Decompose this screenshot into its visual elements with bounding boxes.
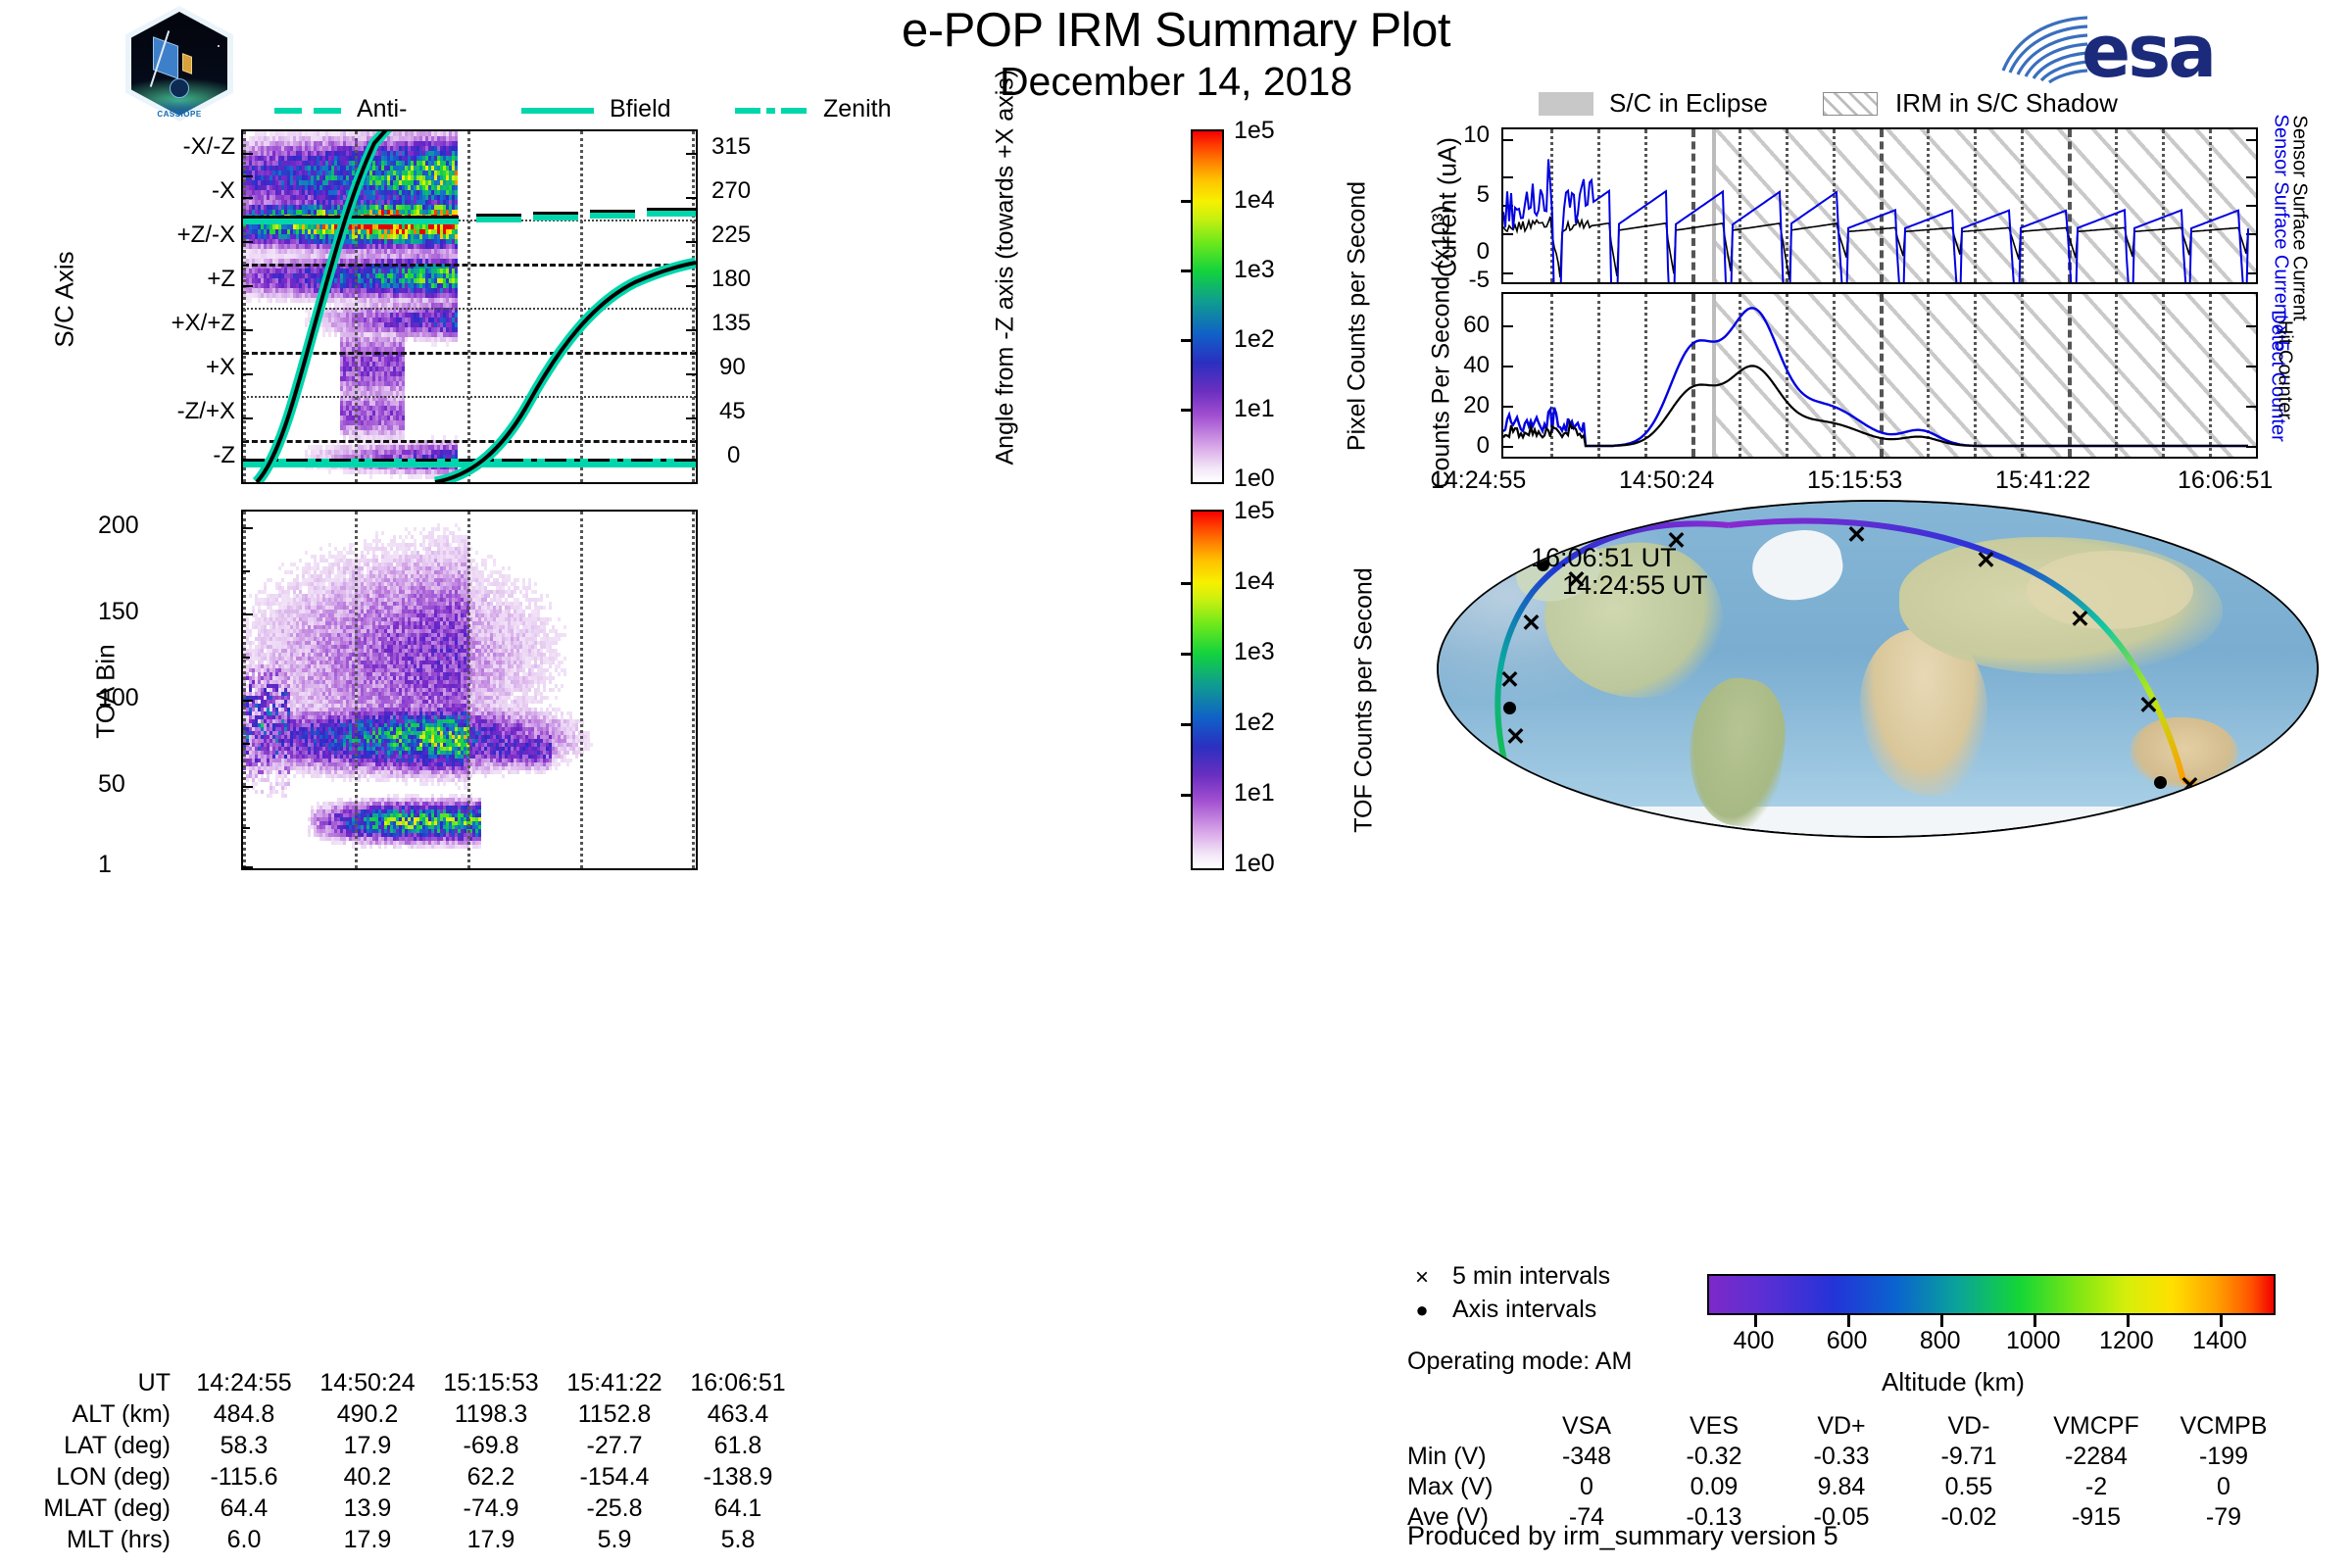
time-tick-1: 14:50:24 (1619, 466, 1714, 495)
sensor-surface-current-plot[interactable] (1501, 127, 2258, 284)
map-x-marker: ✕ (1521, 612, 1542, 636)
angle-tick-45: 45 (719, 398, 746, 425)
ephemeris-cell: 64.1 (676, 1493, 800, 1524)
voltage-row-label: Max (V) (1407, 1472, 1523, 1502)
table-row: MLAT (deg)64.413.9-74.9-25.864.1 (35, 1493, 800, 1524)
legend-label-bfield: Bfield (610, 95, 671, 123)
ephemeris-row-label: LON (deg) (35, 1461, 182, 1493)
ephemeris-cell: 16:06:51 (676, 1367, 800, 1398)
ephemeris-cell: 15:41:22 (553, 1367, 676, 1398)
shadow-legend-label: IRM in S/C Shadow (1895, 88, 2118, 119)
ephemeris-cell: 14:50:24 (306, 1367, 429, 1398)
sc-axis-spectrogram[interactable] (241, 129, 698, 484)
altitude-tick-mark (2033, 1315, 2036, 1327)
voltage-column-header: VES (1650, 1411, 1778, 1442)
map-x-marker: ✕ (2270, 772, 2290, 797)
map-x-marker: ✕ (1505, 725, 1526, 750)
angle-tick-90: 90 (719, 354, 746, 381)
produced-by-footer: Produced by irm_summary version 5 (1407, 1521, 1838, 1551)
sc-axis-tick--x--z: -X/-Z (4, 133, 235, 161)
map-legend-label-axis: Axis intervals (1452, 1296, 1596, 1324)
toa-bin-ylabel: TOA Bin (91, 604, 122, 780)
map-end-time-annotation: 16:06:51 UT (1531, 543, 1677, 573)
altitude-tick-label: 1000 (2006, 1327, 2061, 1355)
altitude-colorbar (1707, 1274, 2276, 1315)
altitude-tick-label: 400 (1734, 1327, 1775, 1355)
sc-axis-ylabel: S/C Axis (50, 212, 80, 388)
angle-tick-225: 225 (711, 221, 751, 249)
altitude-tick-label: 800 (1920, 1327, 1961, 1355)
table-row: LON (deg)-115.640.262.2-154.4-138.9 (35, 1461, 800, 1493)
angle-tick-270: 270 (711, 177, 751, 205)
voltage-column-header: VD- (1905, 1411, 2033, 1442)
voltage-cell: 0 (2160, 1472, 2287, 1502)
voltage-column-header: VMCPF (2033, 1411, 2160, 1442)
page-title: e-POP IRM Summary Plot (588, 6, 1764, 57)
ground-track-map[interactable]: ✕ ✕ ✕ ✕ ✕ ✕ ✕ ✕ ✕ ✕ ✕ ✕ 16:06:51 UT 14:2… (1437, 500, 2319, 838)
counts-per-second-plot[interactable] (1501, 292, 2258, 459)
sc-axis-tick-nz-px: -Z/+X (4, 398, 235, 425)
angle-tick-180: 180 (711, 266, 751, 293)
voltage-corner-cell (1407, 1411, 1523, 1442)
table-row: LAT (deg)58.317.9-69.8-27.761.8 (35, 1430, 800, 1461)
sc-axis-tick-nz: -Z (4, 442, 235, 469)
voltage-cell: 0.09 (1650, 1472, 1778, 1502)
ephemeris-cell: 17.9 (306, 1524, 429, 1555)
voltage-cell: -2 (2033, 1472, 2160, 1502)
toa-tick-200: 200 (98, 512, 225, 540)
operating-mode-label: Operating mode: AM (1407, 1347, 1632, 1376)
altitude-tick-mark (1847, 1315, 1850, 1327)
map-x-marker: ✕ (1521, 782, 1542, 807)
ephemeris-row-label: ALT (km) (35, 1398, 182, 1430)
counts-right-label-black: Hit Counter (2274, 307, 2296, 434)
table-header-row: VSAVESVD+VD-VMCPFVCMPB (1407, 1411, 2287, 1442)
voltage-cell: -9.71 (1905, 1442, 2033, 1472)
ephemeris-cell: 5.8 (676, 1524, 800, 1555)
voltage-cell: -79 (2160, 1502, 2287, 1533)
altitude-tick-mark (2127, 1315, 2130, 1327)
sc-axis-tick-pz: +Z (4, 266, 235, 293)
altitude-tick-label: 1400 (2192, 1327, 2247, 1355)
sc-axis-tick-px: +X (4, 354, 235, 381)
ephemeris-cell: 15:15:53 (429, 1367, 553, 1398)
voltage-cell: 0 (1523, 1472, 1650, 1502)
trace-bfield (243, 131, 696, 482)
current-traces (1503, 129, 2256, 282)
shadow-hatch-swatch (1823, 92, 1878, 116)
voltage-row-label: Min (V) (1407, 1442, 1523, 1472)
table-row: Min (V)-348-0.32-0.33-9.71-2284-199 (1407, 1442, 2287, 1472)
cbarB-tick-1e0: 1e0 (1234, 850, 1275, 878)
table-row: MLT (hrs)6.017.917.95.95.8 (35, 1524, 800, 1555)
table-row: UT14:24:5514:50:2415:15:5315:41:2216:06:… (35, 1367, 800, 1398)
cbarB-tick-1e3: 1e3 (1234, 638, 1275, 666)
map-x-marker: ✕ (1499, 668, 1520, 693)
altitude-colorbar-title: Altitude (km) (1882, 1367, 2025, 1397)
time-tick-2: 15:15:53 (1807, 466, 1902, 495)
ephemeris-row-label: UT (35, 1367, 182, 1398)
cbarA-tick-1e3: 1e3 (1234, 256, 1275, 284)
sc-axis-tick--x: -X (4, 177, 235, 205)
voltage-cell: -199 (2160, 1442, 2287, 1472)
map-legend-label-5min: 5 min intervals (1452, 1262, 1610, 1291)
shading-legend: S/C in Eclipse IRM in S/C Shadow (1539, 90, 2283, 122)
toa-tick-1: 1 (98, 851, 225, 879)
angle-tick-135: 135 (711, 310, 751, 337)
ephemeris-table-body: UT14:24:5514:50:2415:15:5315:41:2216:06:… (35, 1367, 800, 1555)
voltage-column-header: VD+ (1778, 1411, 1905, 1442)
eclipse-legend-label: S/C in Eclipse (1609, 88, 1768, 119)
voltage-column-header: VSA (1523, 1411, 1650, 1442)
cassiope-mission-patch-icon: CASSIOPE (125, 6, 233, 122)
time-tick-4: 16:06:51 (2178, 466, 2273, 495)
ephemeris-cell: 484.8 (182, 1398, 306, 1430)
sc-axis-tick-pz-nx: +Z/-X (4, 221, 235, 249)
time-tick-0: 14:24:55 (1431, 466, 1526, 495)
voltage-cell: -348 (1523, 1442, 1650, 1472)
cbarA-title: Pixel Counts per Second (1344, 150, 1372, 483)
angle-tick-315: 315 (711, 133, 751, 161)
dot-marker-icon: ● (1407, 1298, 1437, 1323)
ephemeris-cell: 64.4 (182, 1493, 306, 1524)
current-right-label-black: Sensor Surface Current (2288, 116, 2311, 312)
ephemeris-cell: 61.8 (676, 1430, 800, 1461)
map-start-time-annotation: 14:24:55 UT (1562, 570, 1708, 601)
ephemeris-cell: 62.2 (429, 1461, 553, 1493)
ephemeris-cell: 490.2 (306, 1398, 429, 1430)
toa-bin-spectrogram[interactable] (241, 510, 698, 870)
tof-counts-colorbar (1191, 510, 1224, 870)
map-x-marker: ✕ (2138, 694, 2159, 718)
map-x-marker: ✕ (2070, 608, 2090, 632)
ephemeris-row-label: LAT (deg) (35, 1430, 182, 1461)
cbarA-tick-1e1: 1e1 (1234, 395, 1275, 423)
legend-label-zenith: Zenith (823, 95, 891, 123)
ephemeris-cell: 13.9 (306, 1493, 429, 1524)
voltage-cell: -0.33 (1778, 1442, 1905, 1472)
altitude-tick-mark (1940, 1315, 1943, 1327)
ephemeris-cell: -27.7 (553, 1430, 676, 1461)
counts-ylabel: Counts Per Second (x10³) (1429, 264, 1455, 489)
ephemeris-cell: 58.3 (182, 1430, 306, 1461)
patch-label: CASSIOPE (125, 110, 233, 119)
ephemeris-cell: 5.9 (553, 1524, 676, 1555)
ephemeris-cell: -25.8 (553, 1493, 676, 1524)
altitude-tick-mark (1754, 1315, 1757, 1327)
ephemeris-cell: 1152.8 (553, 1398, 676, 1430)
esa-arcs-icon (1997, 12, 2091, 90)
cbarB-tick-1e5: 1e5 (1234, 497, 1275, 525)
map-x-marker: ✕ (1976, 549, 1996, 573)
pixel-counts-colorbar (1191, 129, 1224, 484)
voltage-column-header: VCMPB (2160, 1411, 2287, 1442)
ephemeris-row-label: MLAT (deg) (35, 1493, 182, 1524)
cbarA-tick-1e4: 1e4 (1234, 186, 1275, 215)
cbarB-tick-1e4: 1e4 (1234, 567, 1275, 596)
ephemeris-cell: -138.9 (676, 1461, 800, 1493)
voltage-cell: 9.84 (1778, 1472, 1905, 1502)
cbarA-tick-1e5: 1e5 (1234, 117, 1275, 145)
ephemeris-cell: 14:24:55 (182, 1367, 306, 1398)
angle-axis-ylabel: Angle from -Z axis (towards +X axis) (992, 132, 1020, 465)
altitude-tick-label: 1200 (2099, 1327, 2154, 1355)
esa-wordmark: esa (2082, 10, 2214, 94)
ephemeris-cell: 17.9 (306, 1430, 429, 1461)
ephemeris-cell: -115.6 (182, 1461, 306, 1493)
ephemeris-cell: 6.0 (182, 1524, 306, 1555)
voltage-cell: -0.32 (1650, 1442, 1778, 1472)
time-tick-3: 15:41:22 (1995, 466, 2090, 495)
cbarB-title: TOF Counts per Second (1350, 534, 1379, 867)
sc-axis-tick-px-pz: +X/+Z (4, 310, 235, 337)
ephemeris-cell: 17.9 (429, 1524, 553, 1555)
map-axis-dot (1503, 702, 1516, 714)
x-marker-icon: × (1407, 1264, 1437, 1292)
ephemeris-row-label: MLT (hrs) (35, 1524, 182, 1555)
cbarB-tick-1e1: 1e1 (1234, 779, 1275, 808)
ephemeris-table: UT14:24:5514:50:2415:15:5315:41:2216:06:… (35, 1367, 800, 1555)
eclipse-swatch (1539, 92, 1593, 116)
counts-traces (1503, 294, 2256, 457)
map-axis-dot (2154, 776, 2167, 789)
ephemeris-cell: -69.8 (429, 1430, 553, 1461)
altitude-tick-mark (2220, 1315, 2223, 1327)
sc-trace-legend: Anti-ram Bfield Zenith (274, 94, 960, 127)
ephemeris-cell: 463.4 (676, 1398, 800, 1430)
table-row: ALT (km)484.8490.21198.31152.8463.4 (35, 1398, 800, 1430)
voltage-cell: 0.55 (1905, 1472, 2033, 1502)
cbarA-tick-1e0: 1e0 (1234, 465, 1275, 493)
ephemeris-cell: -74.9 (429, 1493, 553, 1524)
voltage-cell: -915 (2033, 1502, 2160, 1533)
voltage-summary-table: VSAVESVD+VD-VMCPFVCMPBMin (V)-348-0.32-0… (1407, 1411, 2289, 1533)
altitude-tick-label: 600 (1827, 1327, 1868, 1355)
esa-logo-icon: esa (1997, 8, 2291, 94)
cbarB-tick-1e2: 1e2 (1234, 709, 1275, 737)
table-row: Max (V)00.099.840.55-20 (1407, 1472, 2287, 1502)
cbarA-tick-1e2: 1e2 (1234, 325, 1275, 354)
ephemeris-cell: -154.4 (553, 1461, 676, 1493)
map-x-marker: ✕ (2180, 774, 2200, 799)
ephemeris-cell: 1198.3 (429, 1398, 553, 1430)
angle-tick-0: 0 (727, 442, 740, 469)
ephemeris-cell: 40.2 (306, 1461, 429, 1493)
voltage-cell: -0.02 (1905, 1502, 2033, 1533)
map-x-marker: ✕ (1846, 523, 1867, 548)
voltage-cell: -2284 (2033, 1442, 2160, 1472)
